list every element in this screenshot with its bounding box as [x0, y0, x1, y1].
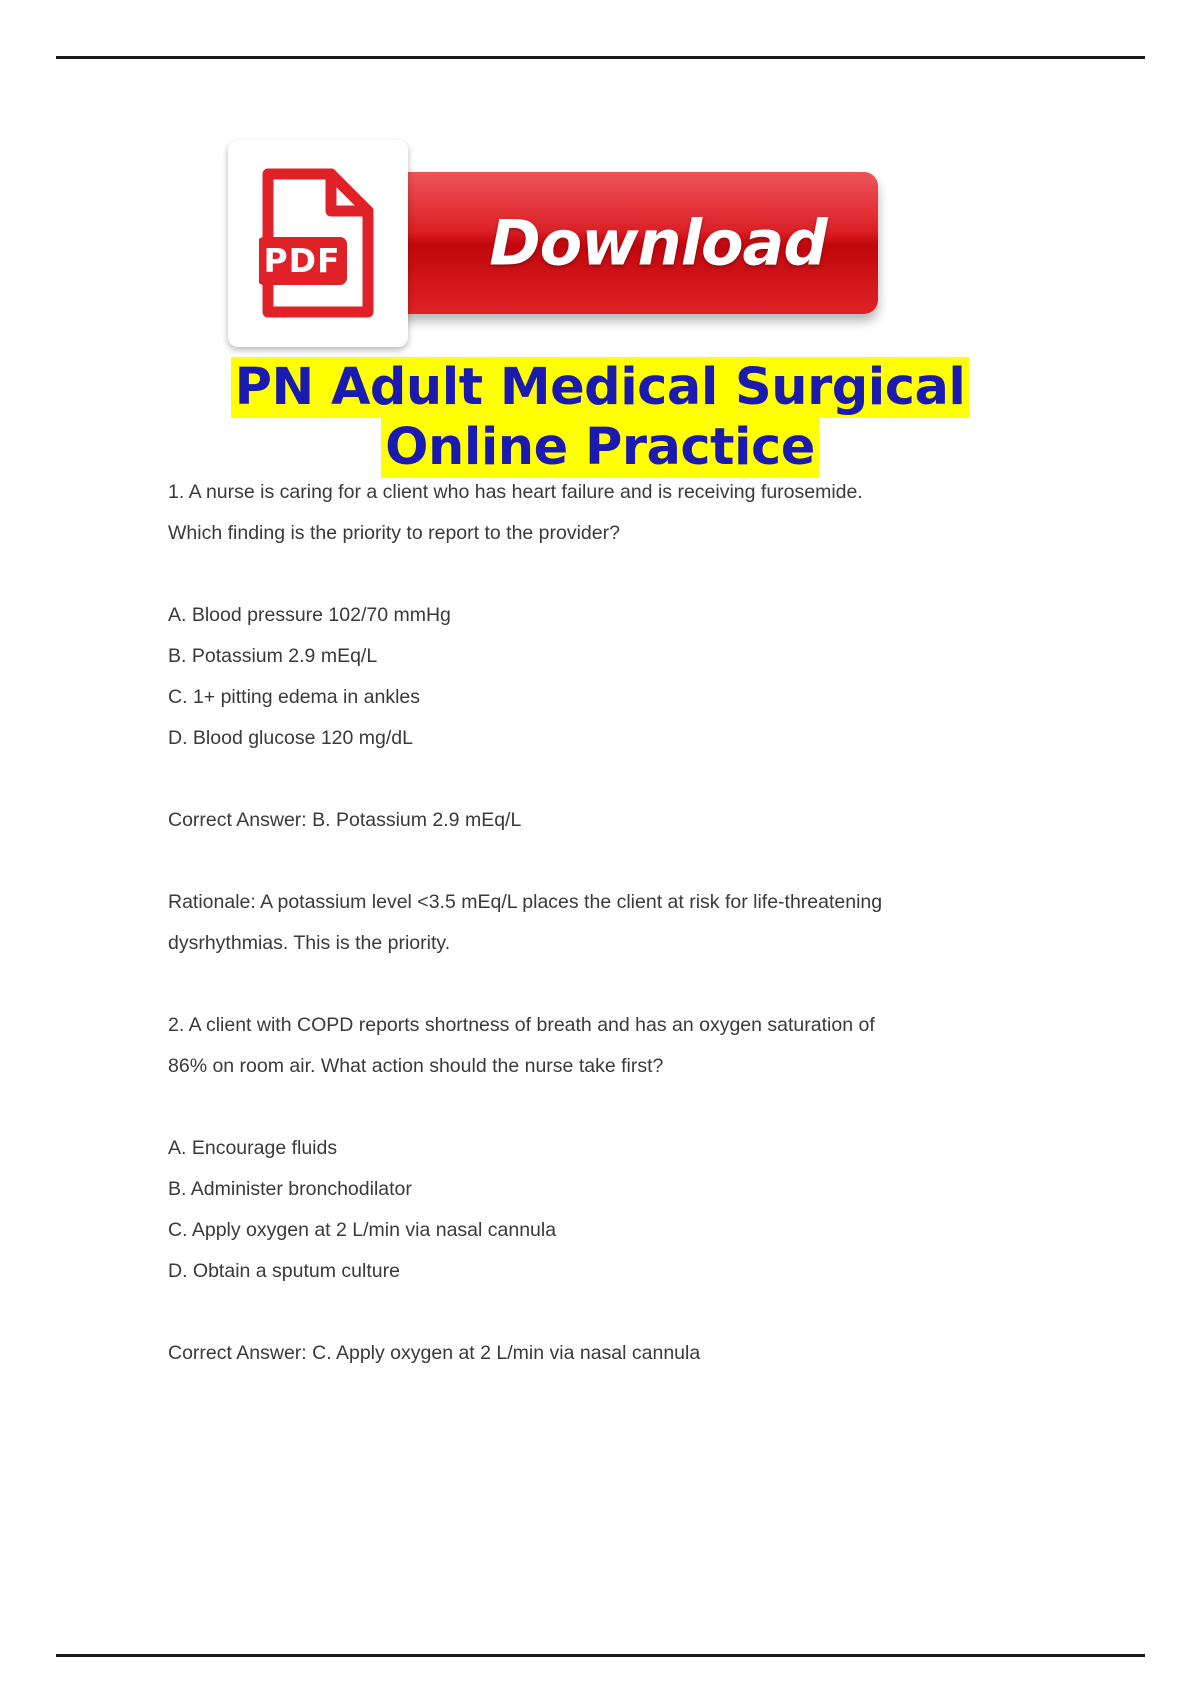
q2-option-c: C. Apply oxygen at 2 L/min via nasal can…	[168, 1210, 968, 1251]
header-divider	[56, 56, 1145, 59]
spacer	[168, 759, 968, 800]
pdf-file-icon: PDF	[228, 140, 408, 347]
page-title-line-2: Online Practice	[381, 417, 819, 478]
q1-option-b: B. Potassium 2.9 mEq/L	[168, 636, 968, 677]
download-button-label: Download	[378, 207, 878, 280]
q2-stem-line-2: 86% on room air. What action should the …	[168, 1046, 968, 1087]
spacer	[168, 1087, 968, 1128]
q1-option-a: A. Blood pressure 102/70 mmHg	[168, 595, 968, 636]
download-button[interactable]: Download	[378, 172, 878, 314]
q1-rationale-line-2: dysrhythmias. This is the priority.	[168, 923, 968, 964]
q1-rationale-line-1: Rationale: A potassium level <3.5 mEq/L …	[168, 882, 968, 923]
q1-option-d: D. Blood glucose 120 mg/dL	[168, 718, 968, 759]
document-body: 1. A nurse is caring for a client who ha…	[168, 472, 968, 1374]
q1-correct-answer: Correct Answer: B. Potassium 2.9 mEq/L	[168, 800, 968, 841]
q2-correct-answer: Correct Answer: C. Apply oxygen at 2 L/m…	[168, 1333, 968, 1374]
spacer	[168, 1292, 968, 1333]
page-title: PN Adult Medical Surgical Online Practic…	[140, 358, 1060, 478]
q1-stem-line-2: Which finding is the priority to report …	[168, 513, 968, 554]
spacer	[168, 841, 968, 882]
q2-option-a: A. Encourage fluids	[168, 1128, 968, 1169]
spacer	[168, 554, 968, 595]
q2-option-b: B. Administer bronchodilator	[168, 1169, 968, 1210]
pdf-document-icon: PDF	[259, 165, 377, 321]
document-page: Download PDF PN Adult Medical Surgical O…	[0, 0, 1200, 1700]
q1-stem-line-1: 1. A nurse is caring for a client who ha…	[168, 472, 968, 513]
svg-text:PDF: PDF	[263, 241, 340, 280]
spacer	[168, 964, 968, 1005]
footer-divider	[56, 1654, 1145, 1657]
download-banner[interactable]: Download PDF	[228, 140, 878, 350]
q2-option-d: D. Obtain a sputum culture	[168, 1251, 968, 1292]
q1-option-c: C. 1+ pitting edema in ankles	[168, 677, 968, 718]
q2-stem-line-1: 2. A client with COPD reports shortness …	[168, 1005, 968, 1046]
page-title-line-1: PN Adult Medical Surgical	[231, 357, 970, 418]
